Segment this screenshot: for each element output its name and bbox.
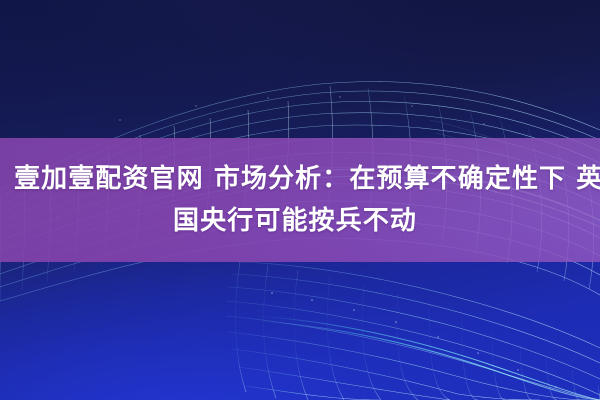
- banner-image: 壹加壹配资官网 市场分析：在预算不确定性下 英 国央行可能按兵不动: [0, 0, 600, 400]
- headline-block: 壹加壹配资官网 市场分析：在预算不确定性下 英 国央行可能按兵不动: [0, 138, 600, 262]
- headline-line-1: 壹加壹配资官网 市场分析：在预算不确定性下 英: [12, 158, 588, 200]
- headline-line-2: 国央行可能按兵不动: [12, 200, 588, 242]
